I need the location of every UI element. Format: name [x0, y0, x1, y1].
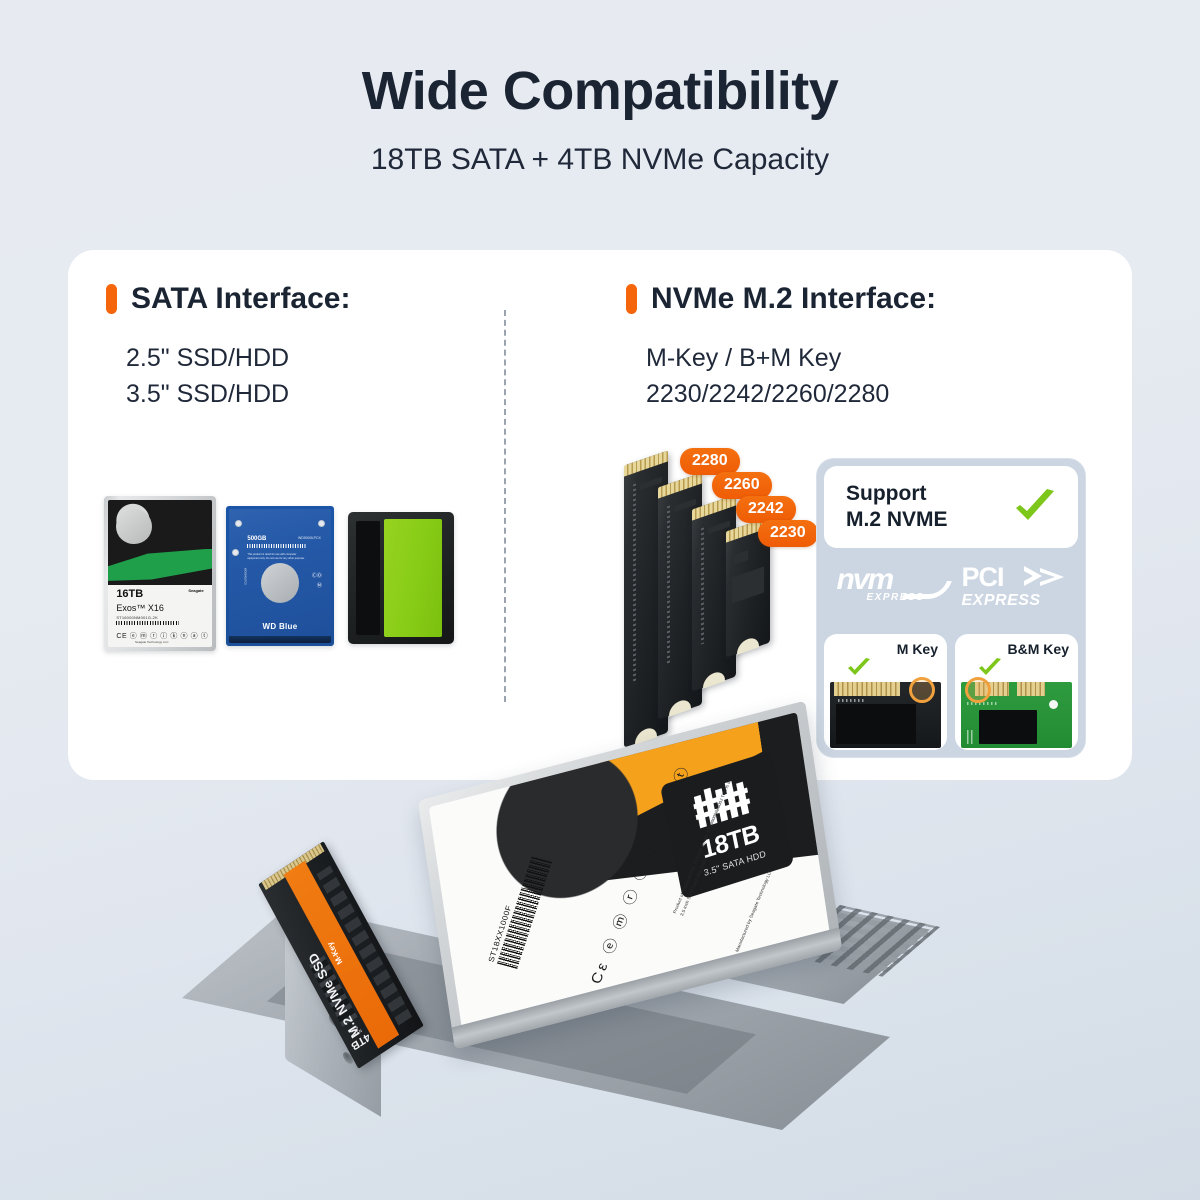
- sata-spec-list: 2.5" SSD/HDD 3.5" SSD/HDD: [126, 341, 289, 412]
- m2-size-badge-2242: 2242: [736, 496, 796, 523]
- pcb-nand-chip: [979, 710, 1037, 744]
- hdd-arc-graphic: [462, 716, 671, 933]
- drive-model-label: Exos™ X16: [116, 603, 164, 613]
- pci-arrow-icon: [1022, 565, 1066, 589]
- green-check-icon: [846, 657, 872, 679]
- sata-heading-label: SATA Interface:: [131, 282, 350, 316]
- support-badge: Support M.2 NVME: [824, 466, 1078, 548]
- key-card-label: B&M Key: [1008, 641, 1069, 657]
- m2-size-badge-2230: 2230: [758, 520, 818, 547]
- pci-logo-small-text: EXPRESS: [962, 592, 1066, 610]
- m2-size-badge-2280: 2280: [680, 448, 740, 475]
- column-divider: [504, 310, 506, 702]
- drive-side-print: WD5000LPCX: [237, 568, 246, 630]
- barcode: [247, 544, 306, 548]
- pcb-mounting-hole: [1049, 700, 1058, 709]
- drive-image-2p5-ssd: SSD Premier SP580: [348, 512, 454, 644]
- green-check-icon: [1012, 487, 1058, 527]
- sata-spec-item: 3.5" SSD/HDD: [126, 377, 289, 413]
- m2-mounting-notch: [737, 635, 759, 655]
- m2-solder-pads: [633, 483, 636, 684]
- certification-marks: ⒸⓄⓂ: [312, 571, 322, 592]
- support-label-line2: M.2 NVME: [846, 507, 948, 533]
- hdd-18tb-product-image: 18TB 3.5" SATA HDD ST18XX1000F Cε ⓔ ⓜ ⓡ …: [418, 701, 842, 1050]
- m2-nand-chip: [732, 566, 764, 603]
- screw-icon: [232, 549, 239, 556]
- screw-icon: [318, 520, 325, 527]
- ssd-green-label: SSD Premier SP580: [384, 519, 442, 637]
- m2-gold-connector: [624, 450, 668, 476]
- nvme-spec-list: M-Key / B+M Key 2230/2242/2260/2280: [646, 341, 889, 412]
- header: Wide Compatibility 18TB SATA + 4TB NVMe …: [0, 62, 1200, 177]
- support-badge-label: Support M.2 NVME: [846, 481, 948, 532]
- drive-brand-label: Seagate: [188, 588, 203, 593]
- pcb-gold-contacts: [1017, 682, 1045, 696]
- orange-bullet-icon: [626, 284, 637, 314]
- hdd-spindle-disc: [261, 563, 300, 603]
- hdd-spindle-disc: [116, 509, 151, 544]
- support-label-line1: Support: [846, 481, 948, 507]
- drive-model-label: WD5000LPCX: [298, 536, 321, 540]
- drive-serial-label: ST16000NM001G-2K: [116, 615, 158, 620]
- page-title: Wide Compatibility: [0, 62, 1200, 121]
- infographic-page: Wide Compatibility 18TB SATA + 4TB NVMe …: [0, 0, 1200, 1200]
- sata-spec-item: 2.5" SSD/HDD: [126, 341, 289, 377]
- sata-drive-gallery: 16TB Exos™ X16 ST16000NM001G-2K CE ⓔ ⓜ ⓡ…: [100, 492, 470, 657]
- standards-logos: nvm EXPRESS PCI EXPRESS: [816, 554, 1086, 626]
- orange-bullet-icon: [106, 284, 117, 314]
- key-card-label: M Key: [897, 641, 938, 657]
- drive-brand-label: WD Blue: [229, 622, 331, 631]
- product-photo: 18TB 3.5" SATA HDD ST18XX1000F Cε ⓔ ⓜ ⓡ …: [240, 700, 980, 1200]
- pci-express-logo: PCI EXPRESS: [962, 564, 1066, 616]
- drive-image-3p5-hdd: 16TB Exos™ X16 ST16000NM001G-2K CE ⓔ ⓜ ⓡ…: [104, 496, 216, 651]
- nvme-spec-item: M-Key / B+M Key: [646, 341, 889, 377]
- drive-fine-print: This product is rated for use with compu…: [247, 553, 308, 561]
- sata-interface-heading: SATA Interface:: [106, 282, 350, 316]
- ssd-black-bezel: [356, 521, 380, 635]
- drive-image-2p5-hdd: 500GB WD5000LPCX This product is rated f…: [226, 506, 334, 646]
- nvm-express-logo: nvm EXPRESS: [837, 565, 945, 615]
- m2-solder-pads: [701, 527, 704, 644]
- drive-fine-print: Seagate Technology LLC: [135, 640, 168, 644]
- green-check-icon: [977, 657, 1003, 679]
- pcb-gold-contacts: [834, 682, 900, 696]
- nvme-spec-item: 2230/2242/2260/2280: [646, 377, 889, 413]
- m2-controller-chip: [734, 550, 748, 565]
- barcode: [116, 621, 178, 625]
- nvme-interface-heading: NVMe M.2 Interface:: [626, 282, 936, 316]
- drive-capacity-label: 16TB: [116, 588, 143, 600]
- m2-mounting-notch: [703, 669, 725, 689]
- drive-capacity-label: 500GB: [247, 536, 266, 542]
- page-subtitle: 18TB SATA + 4TB NVMe Capacity: [0, 143, 1200, 177]
- drive-connector-edge: [229, 636, 331, 643]
- nvme-heading-label: NVMe M.2 Interface:: [651, 282, 936, 316]
- m2-size-badge-2260: 2260: [712, 472, 772, 499]
- screw-icon: [235, 520, 242, 527]
- m2-solder-pads: [667, 505, 670, 664]
